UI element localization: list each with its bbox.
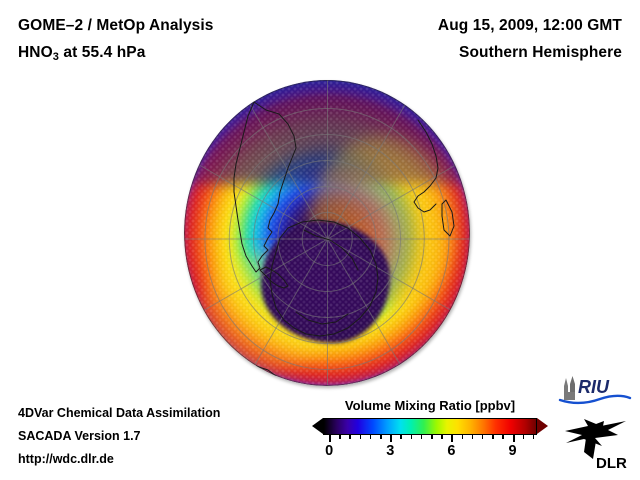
colorbar: Volume Mixing Ratio [ppbv] 0369 [312,398,548,461]
coastline-antarctica-ross [296,312,348,324]
colorbar-tick [421,435,423,439]
coastline-overlay [184,80,470,386]
colorbar-bar [312,418,548,435]
colorbar-tick [492,435,494,439]
coastline-southern-islands [222,342,238,360]
dlr-logo: DLR [562,414,632,472]
riu-cathedral-towers-icon [564,376,575,400]
colorbar-ticks [323,435,537,442]
colorbar-tick [462,435,464,439]
version-label: SACADA Version 1.7 [18,425,220,448]
colorbar-tick-label: 9 [508,443,516,459]
colorbar-tick [472,435,474,439]
colorbar-tick [329,435,331,442]
colorbar-tick [380,435,382,439]
colorbar-tick [339,435,341,439]
coastline-africa [414,120,438,212]
colorbar-title: Volume Mixing Ratio [ppbv] [312,398,548,413]
colorbar-tick [400,435,402,439]
colorbar-tick [523,435,525,439]
colorbar-tick [502,435,504,439]
source-url-label: http://wdc.dlr.de [18,448,220,471]
coastline-antarctica [270,220,378,336]
species-level-text: at 55.4 hPa [59,44,146,61]
colorbar-tick [411,435,413,439]
coastline-madagascar [442,200,454,236]
colorbar-tick [513,435,515,442]
riu-wordmark: RIU [578,377,610,397]
timestamp-label: Aug 15, 2009, 12:00 GMT [292,12,622,39]
coastline-southern-islands-2 [254,366,276,378]
hemisphere-label: Southern Hemisphere [292,39,622,66]
species-formula-main: HNO [18,44,53,61]
colorbar-tick [533,435,535,439]
riu-logo: RIU [556,374,632,406]
method-label: 4DVar Chemical Data Assimilation [18,402,220,425]
coastline-south-america [234,102,296,272]
footer-credits: 4DVar Chemical Data Assimilation SACADA … [18,402,220,471]
colorbar-tick-labels: 0369 [323,443,537,461]
colorbar-tick [360,435,362,439]
colorbar-tick [390,435,392,442]
dlr-eagle-icon [565,419,626,459]
colorbar-tick [431,435,433,439]
colorbar-tick [441,435,443,439]
colorbar-tick-label: 3 [386,443,394,459]
colorbar-extend-low-arrow [312,418,323,434]
colorbar-tick [482,435,484,439]
colorbar-gradient [323,418,537,435]
colorbar-tick-label: 0 [325,443,333,459]
colorbar-tick [370,435,372,439]
globe-disc [184,80,470,386]
polar-map [176,78,478,388]
colorbar-tick-label: 6 [447,443,455,459]
dlr-wordmark: DLR [596,455,627,472]
header-right: Aug 15, 2009, 12:00 GMT Southern Hemisph… [292,12,622,66]
colorbar-extend-high-arrow [537,418,548,434]
coastline-antarctica-interior [304,230,358,270]
colorbar-tick [451,435,453,442]
colorbar-tick [349,435,351,439]
coastline-antarctic-peninsula [260,267,288,288]
